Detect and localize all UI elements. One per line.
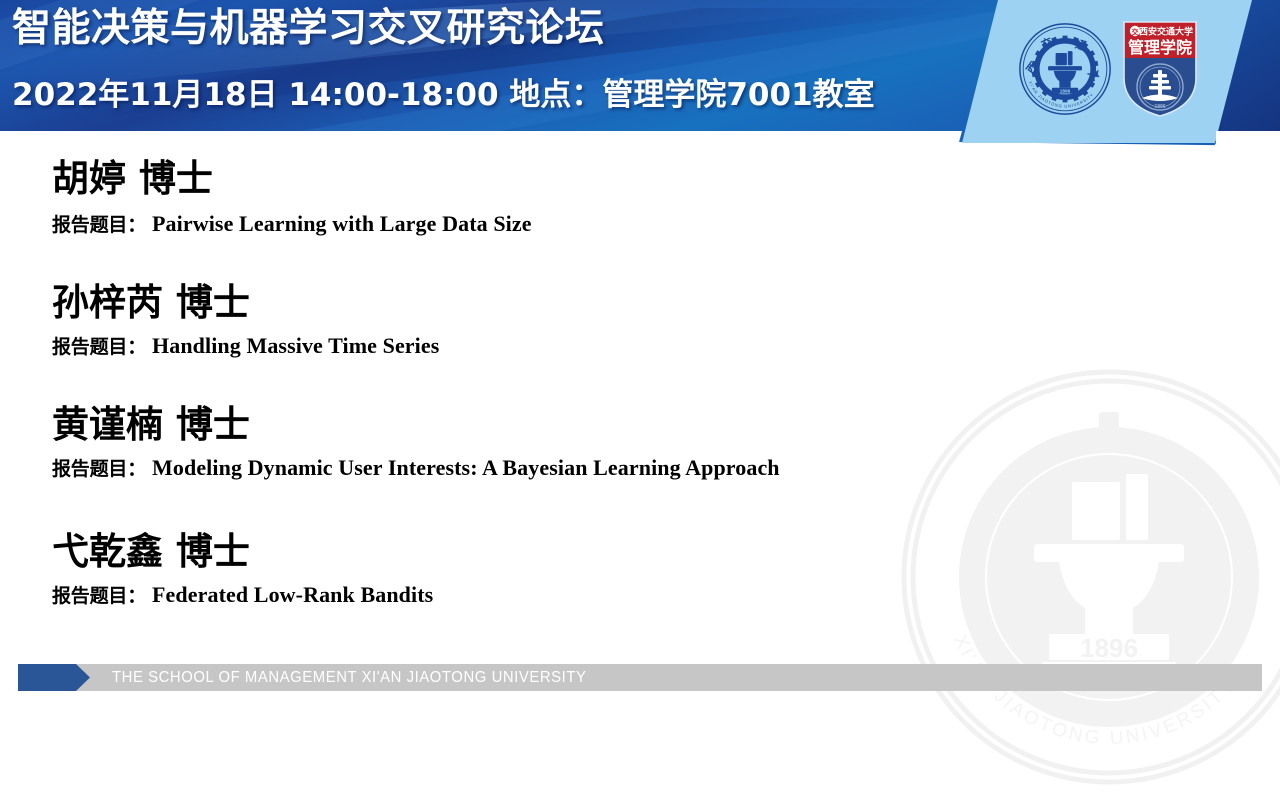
footer: THE SCHOOL OF MANAGEMENT XI'AN JIAOTONG … bbox=[0, 664, 1280, 694]
talk-title: Pairwise Learning with Large Data Size bbox=[152, 211, 532, 237]
xjtu-university-seal-icon: 1896 XI'AN JIAOTONG UNIVERSITY 交 通 西 大 bbox=[1018, 22, 1112, 116]
talk-title-line: 报告题目： Federated Low-Rank Bandits bbox=[52, 581, 433, 608]
speaker-name: 黄谨楠 博士 bbox=[52, 394, 250, 448]
svg-text:西安交通大学: 西安交通大学 bbox=[1139, 26, 1193, 38]
speaker-name: 弋乾鑫 博士 bbox=[52, 521, 250, 575]
school-of-management-shield-icon: 交 西安交通大学 管理学院 1896 bbox=[1120, 20, 1200, 118]
svg-text:1896: 1896 bbox=[1154, 104, 1165, 110]
talk-title-line: 报告题目： Pairwise Learning with Large Data … bbox=[52, 210, 532, 237]
talk-title: Modeling Dynamic User Interests: A Bayes… bbox=[152, 455, 780, 481]
talk-title-line: 报告题目： Handling Massive Time Series bbox=[52, 332, 439, 359]
talk-title: Federated Low-Rank Bandits bbox=[152, 582, 433, 608]
talk-title: Handling Massive Time Series bbox=[152, 333, 439, 359]
footer-arrow-icon bbox=[18, 664, 90, 691]
talk-title-line: 报告题目： Modeling Dynamic User Interests: A… bbox=[52, 454, 780, 481]
talk-list: 胡婷 博士 报告题目： Pairwise Learning with Large… bbox=[0, 146, 1280, 656]
speaker-name: 胡婷 博士 bbox=[52, 148, 213, 202]
talk-label: 报告题目： bbox=[52, 454, 146, 481]
header-banner: 智能决策与机器学习交叉研究论坛 2022年11月18日 14:00-18:00 … bbox=[0, 0, 1280, 146]
talk-label: 报告题目： bbox=[52, 581, 146, 608]
footer-school-name: THE SCHOOL OF MANAGEMENT XI'AN JIAOTONG … bbox=[112, 664, 586, 691]
talk-label: 报告题目： bbox=[52, 210, 146, 237]
svg-text:管理学院: 管理学院 bbox=[1128, 38, 1192, 57]
svg-text:1896: 1896 bbox=[1060, 89, 1071, 94]
logo-group: 1896 XI'AN JIAOTONG UNIVERSITY 交 通 西 大 bbox=[1018, 20, 1200, 118]
speaker-name: 孙梓芮 博士 bbox=[52, 272, 250, 326]
talk-label: 报告题目： bbox=[52, 332, 146, 359]
